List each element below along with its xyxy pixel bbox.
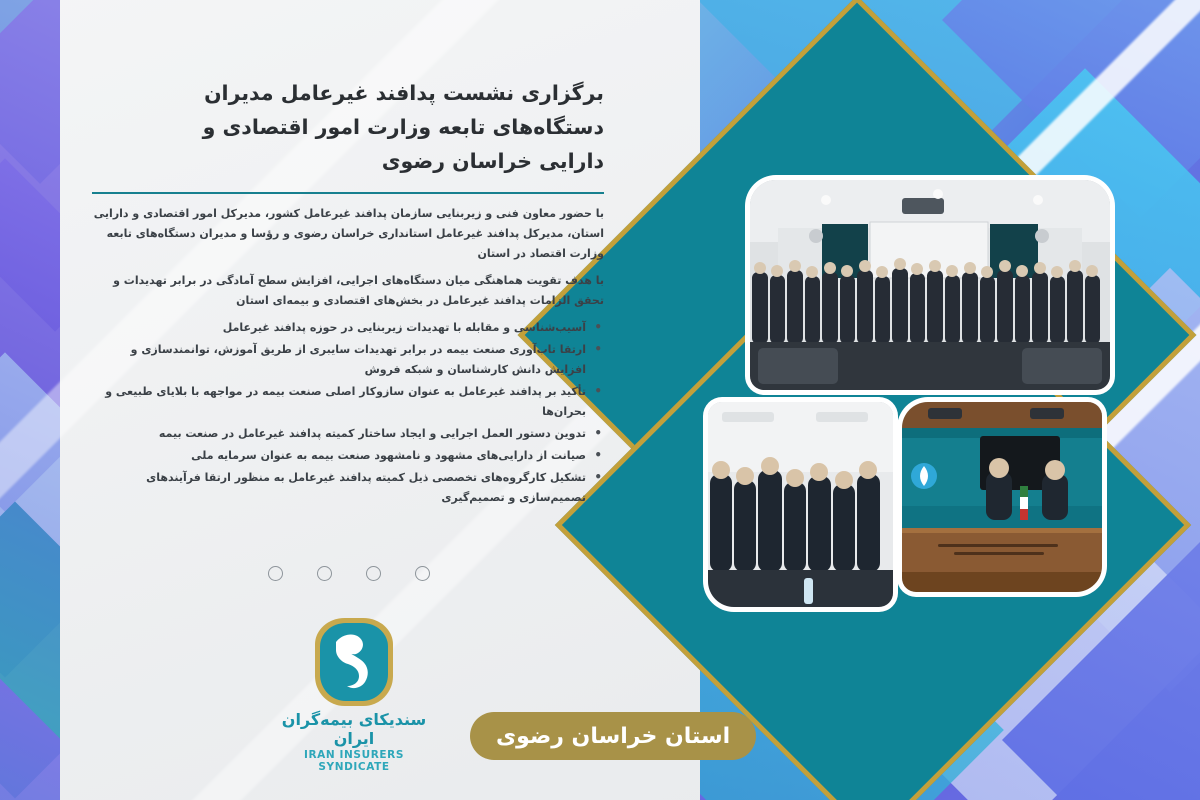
logo-bird-glyph [328, 628, 380, 694]
province-banner-label: استان خراسان رضوی [496, 724, 730, 749]
logo-name-fa: سندیکای بیمه‌گران ایران [268, 710, 440, 748]
page-title: برگزاری نشست پدافند غیرعامل مدیران دستگا… [92, 76, 604, 178]
title-divider [92, 192, 604, 194]
panel-dais-photo[interactable] [902, 402, 1102, 592]
logo-name-en: IRAN INSURERS SYNDICATE [268, 749, 440, 773]
group-photo-art [750, 180, 1110, 390]
list-item: ارتقا تاب‌آوری صنعت بیمه در برابر تهدیدا… [92, 340, 604, 380]
carousel-dot-2[interactable] [366, 566, 381, 581]
brand-logo[interactable]: سندیکای بیمه‌گران ایران IRAN INSURERS SY… [268, 618, 440, 773]
bird-emblem-icon [315, 618, 393, 706]
carousel-dot-3[interactable] [317, 566, 332, 581]
list-item: آسیب‌شناسی و مقابله با تهدیدات زیربنایی … [92, 318, 604, 338]
slide-root: برگزاری نشست پدافند غیرعامل مدیران دستگا… [0, 0, 1200, 800]
title-line-3: دارایی خراسان رضوی [382, 149, 604, 173]
intro-paragraph-2: با هدف تقویت هماهنگی میان دستگاه‌های اجر… [92, 271, 604, 311]
carousel-dot-4[interactable] [268, 566, 283, 581]
intro-paragraph-1: با حضور معاون فنی و زیربنایی سازمان پداف… [92, 204, 604, 264]
list-item: تشکیل کارگروه‌های تخصصی ذیل کمیته پدافند… [92, 468, 604, 508]
highlights-list: آسیب‌شناسی و مقابله با تهدیدات زیربنایی … [92, 318, 604, 508]
list-item: تدوین دستور العمل اجرایی و ایجاد ساختار … [92, 424, 604, 444]
province-banner[interactable]: استان خراسان رضوی [470, 712, 756, 760]
audience-photo-art [708, 402, 893, 607]
audience-seated-photo[interactable] [708, 402, 893, 607]
content-column: برگزاری نشست پدافند غیرعامل مدیران دستگا… [92, 76, 604, 510]
title-line-1: برگزاری نشست پدافند غیرعامل مدیران [204, 81, 604, 105]
title-line-2: دستگاه‌های تابعه وزارت امور اقتصادی و [203, 115, 604, 139]
dais-photo-art [902, 402, 1102, 592]
list-item: تأکید بر پدافند غیرعامل به عنوان سازوکار… [92, 382, 604, 422]
photo-collage [700, 150, 1120, 630]
list-item: صیانت از دارایی‌های مشهود و نامشهود صنعت… [92, 446, 604, 466]
carousel-pagination[interactable] [268, 566, 430, 581]
group-photo-conference-hall[interactable] [750, 180, 1110, 390]
carousel-dot-1[interactable] [415, 566, 430, 581]
